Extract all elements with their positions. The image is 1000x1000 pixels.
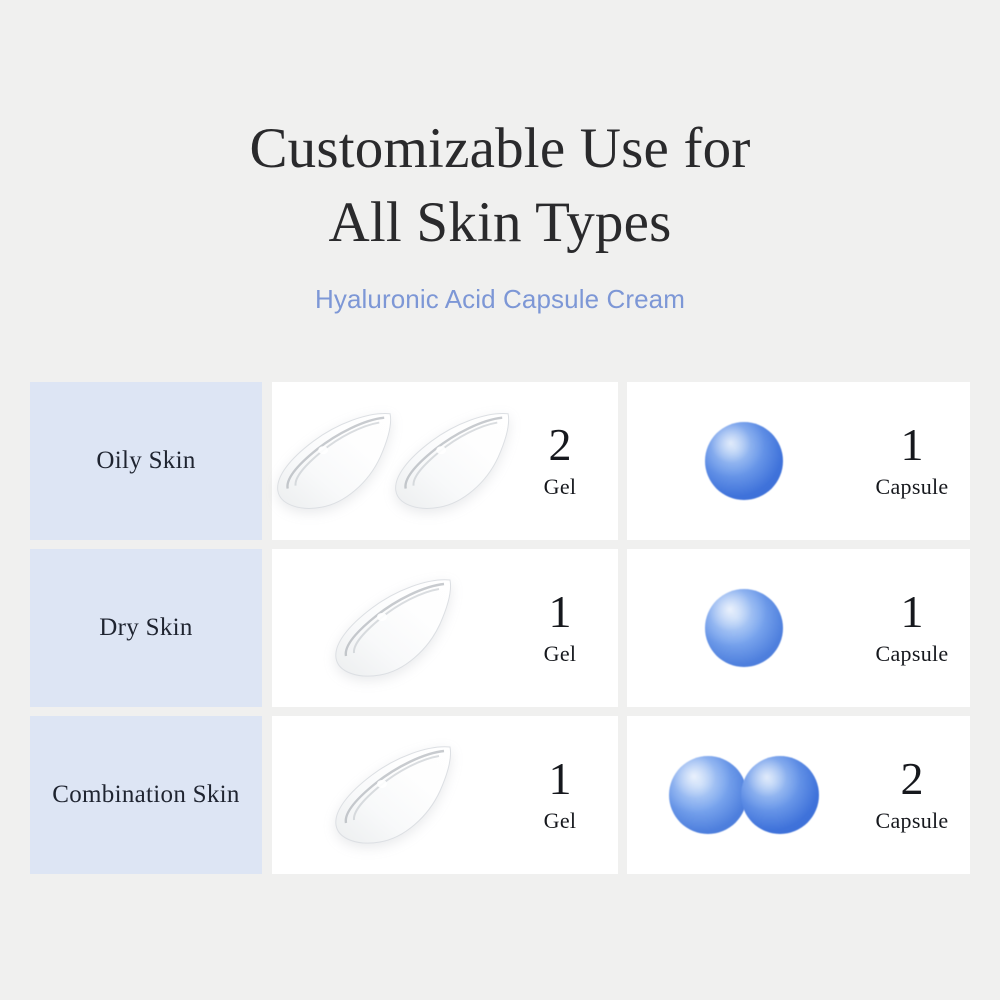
capsule-artwork: [627, 382, 860, 540]
gel-amount-number: 1: [508, 755, 612, 803]
gel-amount-number: 1: [508, 588, 612, 636]
page-title-line-2: All Skin Types: [0, 186, 1000, 260]
skin-type-label-cell: Combination Skin: [30, 716, 262, 874]
capsule-sphere-icon: [741, 756, 819, 834]
infographic-page: Customizable Use for All Skin Types Hyal…: [0, 0, 1000, 1000]
skin-type-label-cell: Dry Skin: [30, 549, 262, 707]
gel-amount-number: 2: [508, 421, 612, 469]
capsule-amount: 1 Capsule: [860, 588, 970, 668]
gel-artwork: [272, 382, 508, 540]
usage-table: Oily Skin: [30, 382, 970, 874]
capsule-sphere-icon: [705, 422, 783, 500]
capsule-sphere-icon: [669, 756, 747, 834]
skin-type-label: Dry Skin: [99, 611, 192, 645]
gel-cell: 2 Gel: [272, 382, 618, 540]
capsule-amount-number: 1: [860, 421, 964, 469]
gel-amount: 1 Gel: [508, 755, 618, 835]
capsule-cell: 1 Capsule: [627, 549, 970, 707]
capsule-amount-unit: Capsule: [860, 636, 964, 668]
gel-amount-unit: Gel: [508, 469, 612, 501]
skin-type-label: Oily Skin: [96, 444, 195, 478]
gel-amount: 1 Gel: [508, 588, 618, 668]
capsule-amount: 1 Capsule: [860, 421, 970, 501]
skin-type-label: Combination Skin: [52, 778, 239, 812]
table-row: Dry Skin: [30, 549, 970, 707]
gel-artwork: [272, 716, 508, 874]
gel-artwork: [272, 549, 508, 707]
capsule-amount-number: 2: [860, 755, 964, 803]
capsule-amount: 2 Capsule: [860, 755, 970, 835]
gel-droplet-icon: [266, 407, 396, 515]
table-row: Oily Skin: [30, 382, 970, 540]
capsule-artwork: [627, 716, 860, 874]
capsule-artwork: [627, 549, 860, 707]
capsule-amount-number: 1: [860, 588, 964, 636]
gel-droplet-icon: [384, 407, 514, 515]
table-row: Combination Skin: [30, 716, 970, 874]
page-title-line-1: Customizable Use for: [0, 112, 1000, 186]
product-subtitle: Hyaluronic Acid Capsule Cream: [0, 260, 1000, 316]
gel-amount: 2 Gel: [508, 421, 618, 501]
capsule-amount-unit: Capsule: [860, 803, 964, 835]
page-title: Customizable Use for All Skin Types: [0, 112, 1000, 260]
capsule-amount-unit: Capsule: [860, 469, 964, 501]
gel-amount-unit: Gel: [508, 803, 612, 835]
gel-cell: 1 Gel: [272, 716, 618, 874]
capsule-cell: 2 Capsule: [627, 716, 970, 874]
gel-cell: 1 Gel: [272, 549, 618, 707]
gel-amount-unit: Gel: [508, 636, 612, 668]
skin-type-label-cell: Oily Skin: [30, 382, 262, 540]
capsule-sphere-icon: [705, 589, 783, 667]
header: Customizable Use for All Skin Types Hyal…: [0, 112, 1000, 316]
capsule-cell: 1 Capsule: [627, 382, 970, 540]
gel-droplet-icon: [324, 741, 456, 849]
gel-droplet-icon: [324, 574, 456, 682]
